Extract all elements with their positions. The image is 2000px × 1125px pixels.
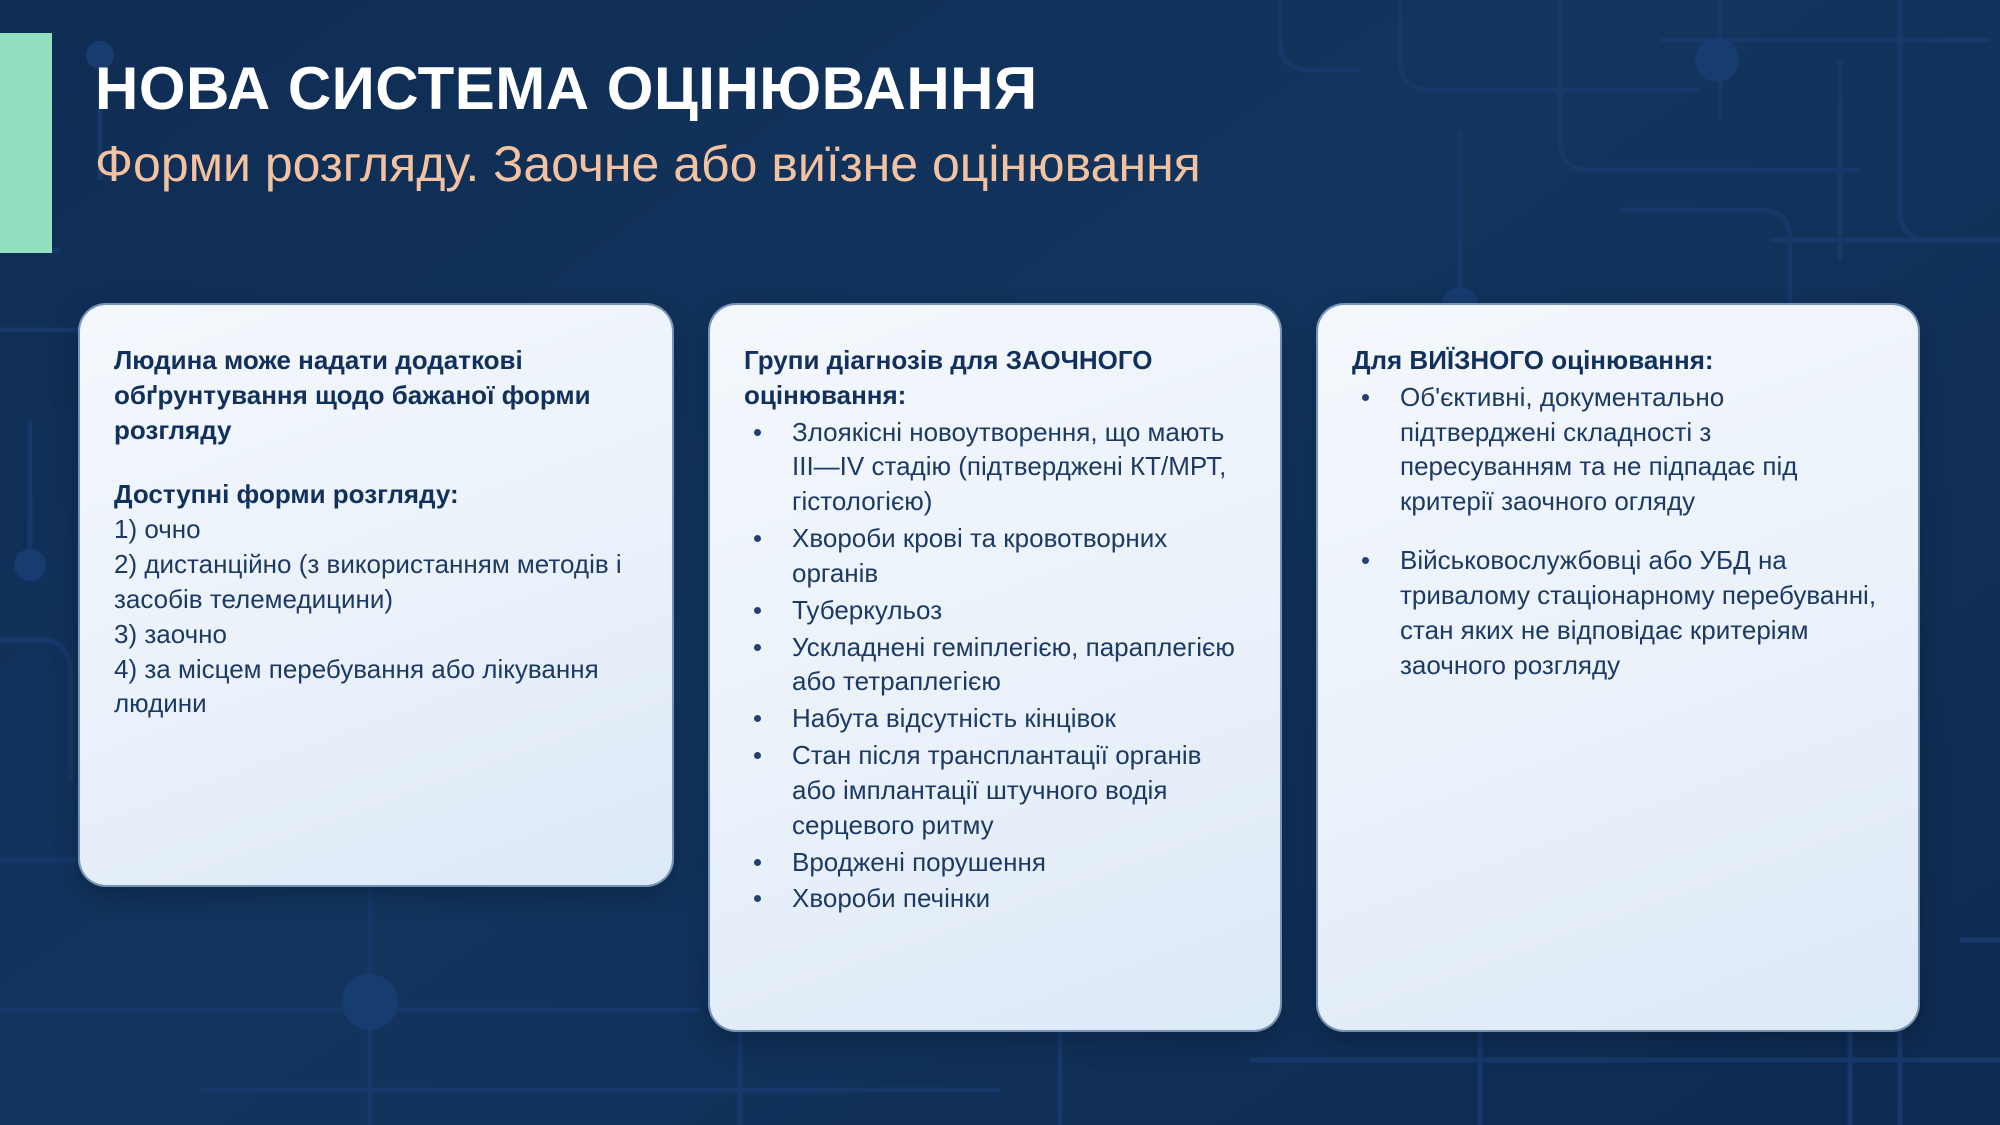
- list-item: Вроджені порушення: [744, 845, 1246, 880]
- page-title: НОВА СИСТЕМА ОЦІНЮВАННЯ: [95, 55, 1895, 122]
- accent-bar-decoration: [0, 33, 52, 253]
- card-remote-assessment-diagnoses: Групи діагнозів для ЗАОЧНОГО оцінювання:…: [710, 305, 1280, 1030]
- list-item: 2) дистанційно (з використанням методів …: [114, 547, 638, 617]
- list-item: Набута відсутність кінцівок: [744, 701, 1246, 736]
- list-item: 4) за місцем перебування або лікування л…: [114, 652, 638, 722]
- card-2-bullet-list: Злоякісні новоутворення, що мають III—IV…: [744, 415, 1246, 917]
- list-item: Туберкульоз: [744, 593, 1246, 628]
- slide: НОВА СИСТЕМА ОЦІНЮВАННЯ Форми розгляду. …: [0, 0, 2000, 1125]
- card-forms-of-review: Людина може надати додаткові обґрунтуван…: [80, 305, 672, 885]
- card-1-subheading: Доступні форми розгляду:: [114, 477, 638, 512]
- slide-header: НОВА СИСТЕМА ОЦІНЮВАННЯ Форми розгляду. …: [95, 55, 1895, 194]
- card-1-list: 1) очно 2) дистанційно (з використанням …: [114, 512, 638, 721]
- card-2-heading: Групи діагнозів для ЗАОЧНОГО оцінювання:: [744, 343, 1246, 413]
- list-item: Хвороби крові та кровотворних органів: [744, 521, 1246, 591]
- page-subtitle: Форми розгляду. Заочне або виїзне оцінюв…: [95, 136, 1895, 194]
- list-item: Військовослужбовці або УБД на тривалому …: [1352, 543, 1884, 682]
- card-1-heading: Людина може надати додаткові обґрунтуван…: [114, 343, 638, 447]
- list-item: Ускладнені геміплегією, параплегією або …: [744, 630, 1246, 700]
- card-onsite-assessment: Для ВИЇЗНОГО оцінювання: Об'єктивні, док…: [1318, 305, 1918, 1030]
- card-1-spacer: [114, 447, 638, 477]
- card-3-bullet-list: Об'єктивні, документально підтверджені с…: [1352, 380, 1884, 683]
- list-item: Стан після трансплантації органів або ім…: [744, 738, 1246, 842]
- list-item: 3) заочно: [114, 617, 638, 652]
- list-item: Об'єктивні, документально підтверджені с…: [1352, 380, 1884, 519]
- card-row: Людина може надати додаткові обґрунтуван…: [80, 305, 1940, 1030]
- list-item: Хвороби печінки: [744, 881, 1246, 916]
- list-item: 1) очно: [114, 512, 638, 547]
- list-item: Злоякісні новоутворення, що мають III—IV…: [744, 415, 1246, 519]
- card-3-heading: Для ВИЇЗНОГО оцінювання:: [1352, 343, 1884, 378]
